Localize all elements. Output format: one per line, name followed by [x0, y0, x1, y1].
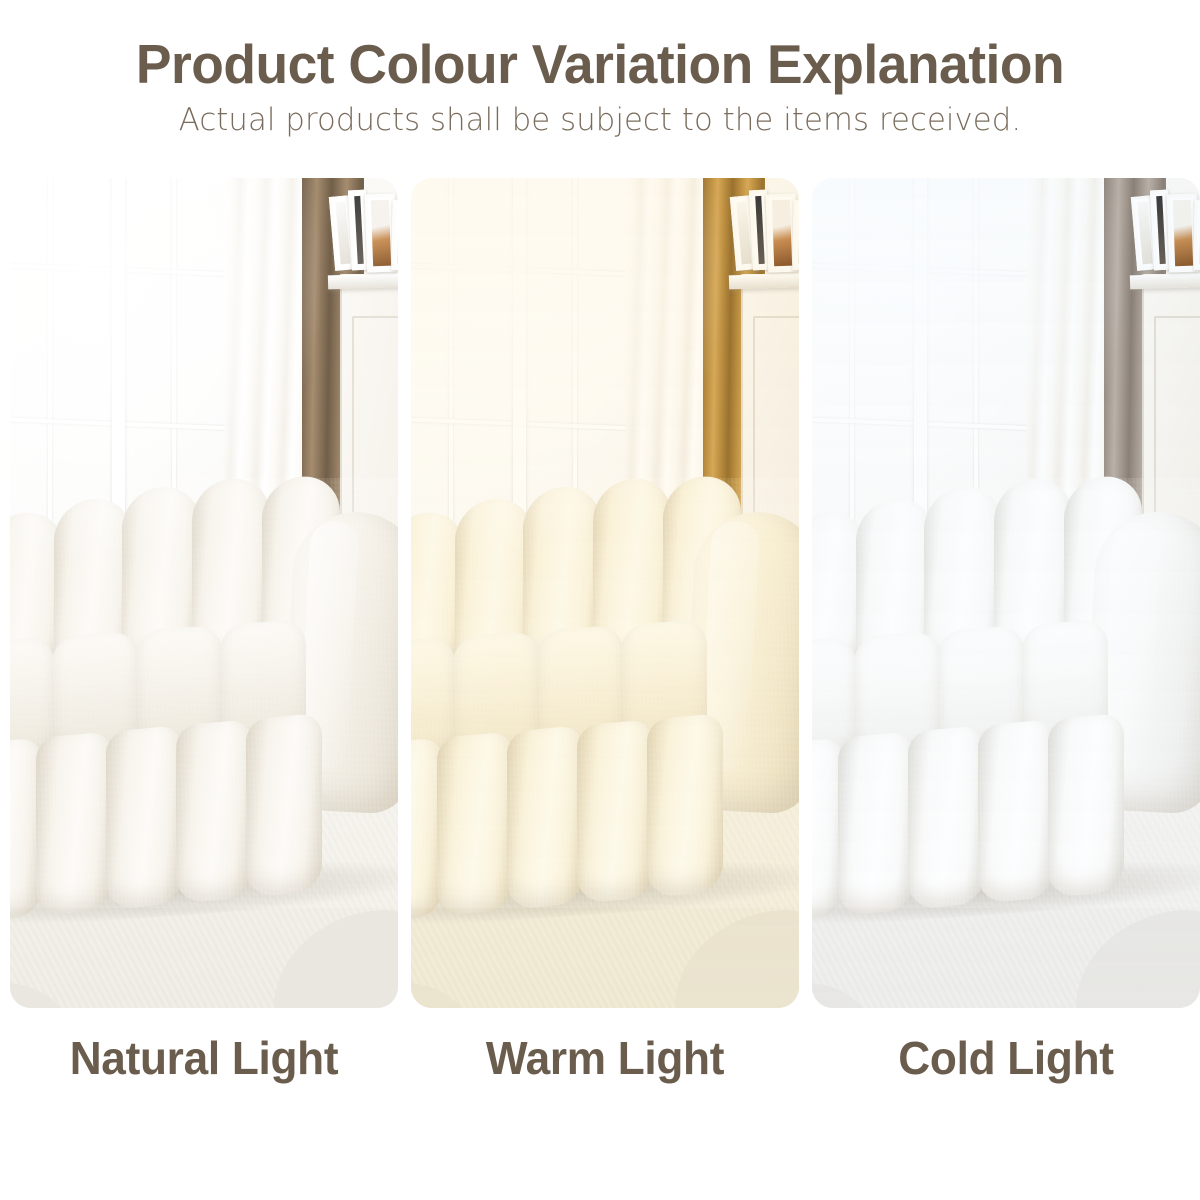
- caption-cold-light: Cold Light: [820, 1018, 1192, 1098]
- room-scene: [812, 178, 1200, 1008]
- caption-natural-light: Natural Light: [18, 1018, 390, 1098]
- sofa-base: [10, 708, 380, 922]
- rug-accent: [675, 905, 799, 1008]
- rug-accent: [274, 905, 398, 1008]
- sofa: [411, 478, 799, 908]
- room-scene: [411, 178, 799, 1008]
- sofa: [10, 478, 398, 908]
- rug-accent: [10, 978, 70, 1008]
- shelf: [729, 273, 799, 290]
- sofa-base: [411, 708, 781, 922]
- rug-accent: [1076, 905, 1200, 1008]
- framed-art: [1193, 200, 1200, 270]
- caption-warm-light: Warm Light: [419, 1018, 791, 1098]
- sofa: [812, 478, 1200, 908]
- sofa-base: [812, 708, 1182, 922]
- page-subtitle: Actual products shall be subject to the …: [6, 102, 1194, 138]
- product-image-natural-light[interactable]: [10, 178, 398, 1008]
- rug-accent: [411, 978, 471, 1008]
- header: Product Colour Variation Explanation Act…: [0, 0, 1200, 138]
- shelf: [1130, 273, 1200, 290]
- framed-art: [792, 200, 799, 270]
- room-scene: [10, 178, 398, 1008]
- framed-art: [391, 200, 398, 270]
- panel-captions: Natural Light Warm Light Cold Light: [10, 1018, 1190, 1098]
- page-title: Product Colour Variation Explanation: [18, 34, 1182, 96]
- rug-accent: [812, 978, 872, 1008]
- product-image-cold-light[interactable]: [812, 178, 1200, 1008]
- shelf: [328, 273, 398, 290]
- product-image-gallery: [10, 178, 1190, 1008]
- product-colour-variation-page: Product Colour Variation Explanation Act…: [0, 0, 1200, 1200]
- product-image-warm-light[interactable]: [411, 178, 799, 1008]
